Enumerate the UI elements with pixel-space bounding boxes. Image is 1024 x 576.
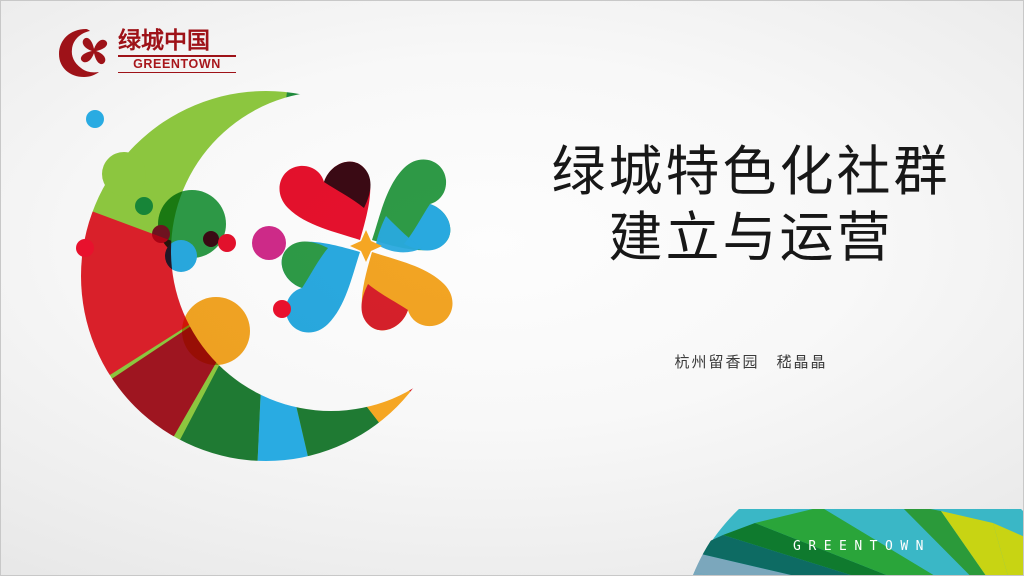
dot-blue-small	[86, 110, 104, 128]
greentown-crescent-and-flower-artwork	[41, 76, 561, 496]
dot-red-tiny	[273, 300, 291, 318]
logo-english-name: GREENTOWN	[118, 57, 236, 72]
footer-fan-decoration	[693, 509, 1023, 575]
dot-orange-overlap	[182, 297, 250, 365]
title-line-2: 建立与运营	[521, 205, 981, 271]
logo-rule-bottom	[118, 72, 236, 74]
dot-red-small	[76, 239, 94, 257]
dot-darkred-tiny	[203, 231, 219, 247]
dot-blue-overlap-upper	[135, 197, 153, 215]
logo-text-block: 绿城中国 GREENTOWN	[118, 27, 238, 73]
dot-blue-overlap-lower	[165, 240, 197, 272]
title-slide: 绿城中国 GREENTOWN	[0, 0, 1024, 576]
dot-magenta	[252, 226, 286, 260]
title-line-1: 绿城特色化社群	[521, 139, 981, 205]
page-title: 绿城特色化社群 建立与运营	[521, 139, 981, 271]
logo-chinese-name: 绿城中国	[118, 27, 238, 54]
flower-shape	[279, 159, 452, 332]
greentown-crescent-flower-icon	[56, 27, 112, 79]
dot-magenta-tiny	[152, 225, 170, 243]
dot-red-overlap	[218, 234, 236, 252]
subtitle-author: 杭州留香园 嵇晶晶	[521, 351, 981, 372]
dot-green-light	[102, 152, 146, 196]
